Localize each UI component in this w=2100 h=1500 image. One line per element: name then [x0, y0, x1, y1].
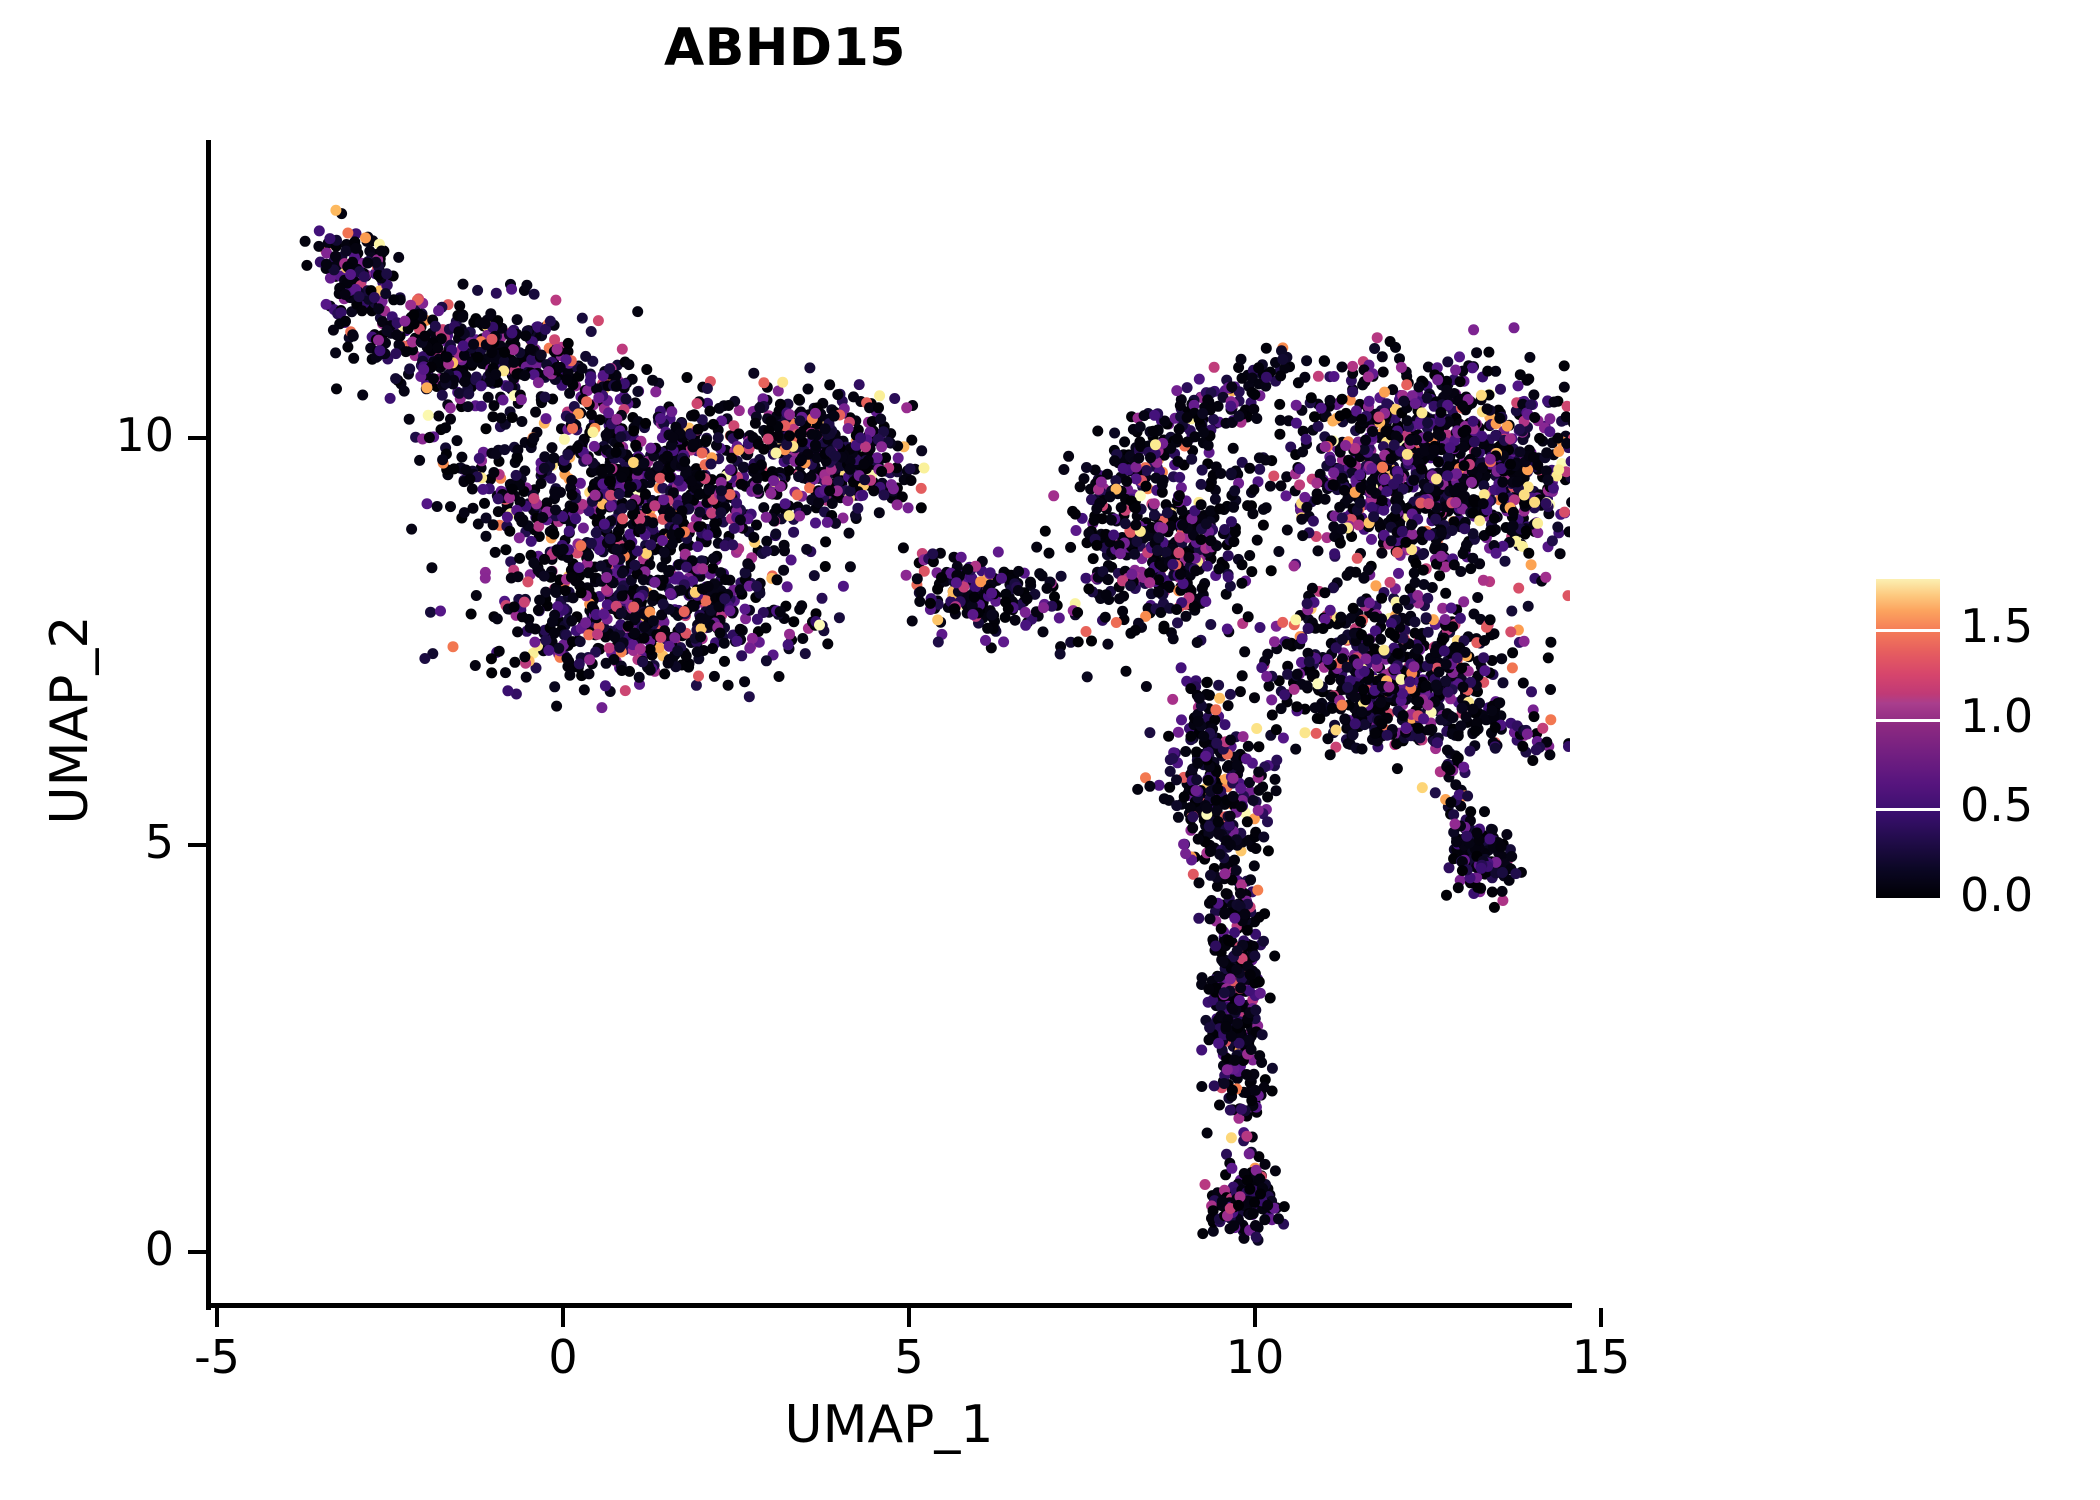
y-axis-spine [206, 140, 211, 1310]
colorbar-tick: 0.0 [1876, 898, 1940, 901]
x-tick-label: 15 [1511, 1330, 1691, 1384]
page-title: ABHD15 [0, 18, 1570, 78]
colorbar-tick-label: 1.5 [1960, 599, 2033, 653]
x-tick-mark [1599, 1308, 1603, 1327]
x-tick-mark [561, 1308, 565, 1327]
x-axis-spine [206, 1303, 1572, 1308]
x-tick-mark [1253, 1308, 1257, 1327]
x-tick-mark [907, 1308, 911, 1327]
x-axis-label: UMAP_1 [206, 1395, 1572, 1455]
colorbar-tick: 0.5 [1876, 808, 1940, 811]
x-tick-label: 5 [819, 1330, 999, 1384]
plot-area [211, 140, 1570, 1305]
colorbar-tick-label: 1.0 [1960, 689, 2033, 743]
scatter-points-layer [211, 140, 1570, 1305]
colorbar-tick-label: 0.0 [1960, 868, 2033, 922]
colorbar-gradient [1876, 579, 1940, 898]
y-tick-mark [188, 436, 207, 440]
colorbar-tick: 1.0 [1876, 719, 1940, 722]
y-tick-label: 0 [0, 1222, 174, 1276]
y-axis-label: UMAP_2 [40, 420, 100, 1020]
y-tick-mark [188, 843, 207, 847]
colorbar-tick: 1.5 [1876, 629, 1940, 632]
colorbar-tick-label: 0.5 [1960, 778, 2033, 832]
x-tick-label: -5 [127, 1330, 307, 1384]
x-tick-mark [215, 1308, 219, 1327]
x-tick-label: 10 [1165, 1330, 1345, 1384]
y-tick-mark [188, 1250, 207, 1254]
x-tick-label: 0 [473, 1330, 653, 1384]
umap-feature-plot-figure: ABHD15 -5051015 0510 UMAP_1 UMAP_2 0.00.… [0, 0, 2100, 1500]
